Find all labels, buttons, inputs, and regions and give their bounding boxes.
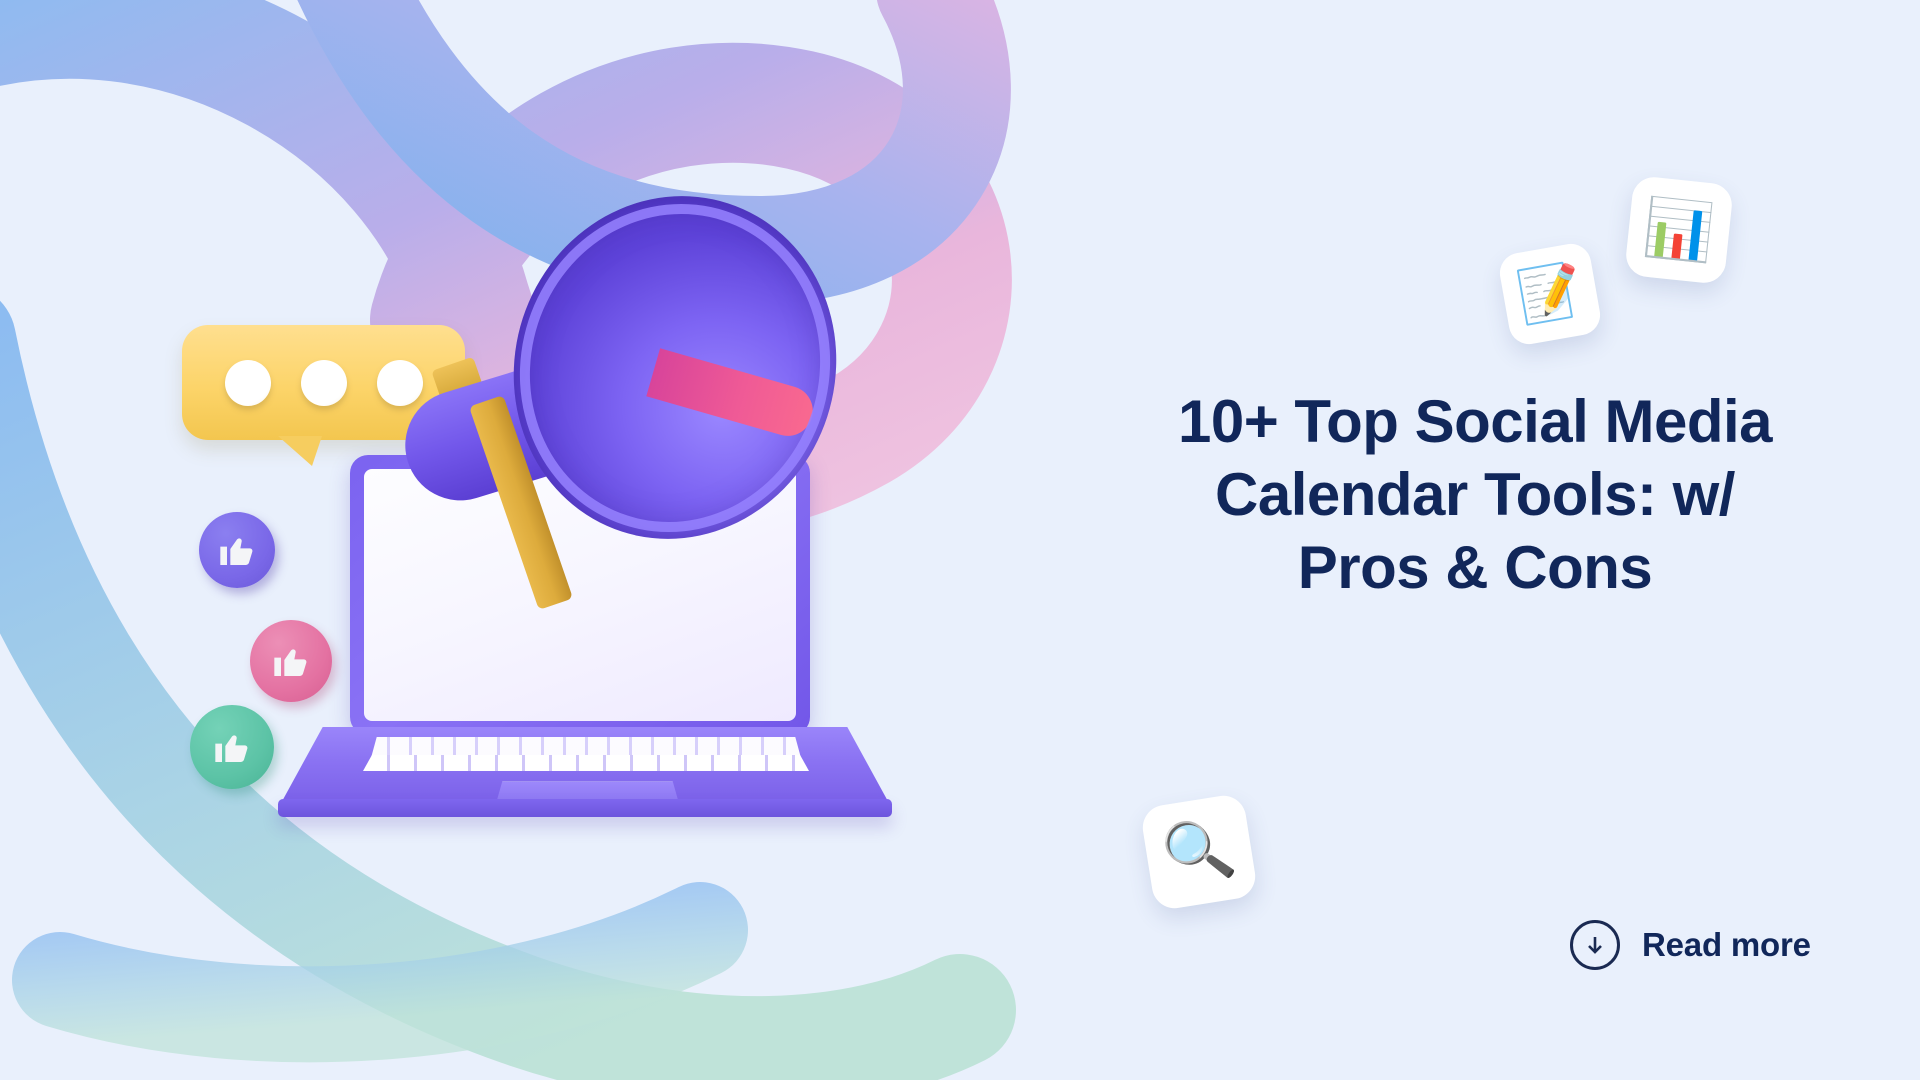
thumbs-up-icon (212, 727, 252, 767)
search-sticker: 🔍 (1140, 793, 1259, 912)
thumbs-up-icon (217, 530, 257, 570)
page-title-line-1: 10+ Top Social Media (1080, 385, 1870, 458)
bar-chart-emoji-icon: 📊 (1641, 199, 1716, 262)
page-title-line-2: Calendar Tools: w/ (1080, 458, 1870, 531)
read-more-label: Read more (1642, 926, 1811, 964)
megaphone-graphic (395, 195, 835, 555)
thumbs-up-badge-teal (190, 705, 274, 789)
magnifying-glass-emoji-icon: 🔍 (1159, 818, 1239, 887)
chart-sticker: 📊 (1624, 175, 1734, 285)
chat-dot (225, 360, 271, 406)
download-circle-arrow-icon[interactable] (1570, 920, 1620, 970)
hero-banner: 📝 📊 🔍 10+ Top Social Media Calendar Tool… (0, 0, 1920, 1080)
chat-dot (301, 360, 347, 406)
down-arrow-icon (1583, 933, 1607, 957)
thumbs-up-badge-purple (199, 512, 275, 588)
page-title: 10+ Top Social Media Calendar Tools: w/ … (1080, 385, 1870, 605)
memo-sticker: 📝 (1497, 241, 1604, 348)
laptop-keyboard-row (363, 755, 809, 771)
laptop-base-edge (278, 799, 892, 817)
read-more-button[interactable]: Read more (1570, 920, 1811, 970)
memo-pencil-emoji-icon: 📝 (1514, 263, 1587, 325)
page-title-line-3: Pros & Cons (1080, 531, 1870, 604)
megaphone-laptop-illustration (0, 0, 1000, 1080)
